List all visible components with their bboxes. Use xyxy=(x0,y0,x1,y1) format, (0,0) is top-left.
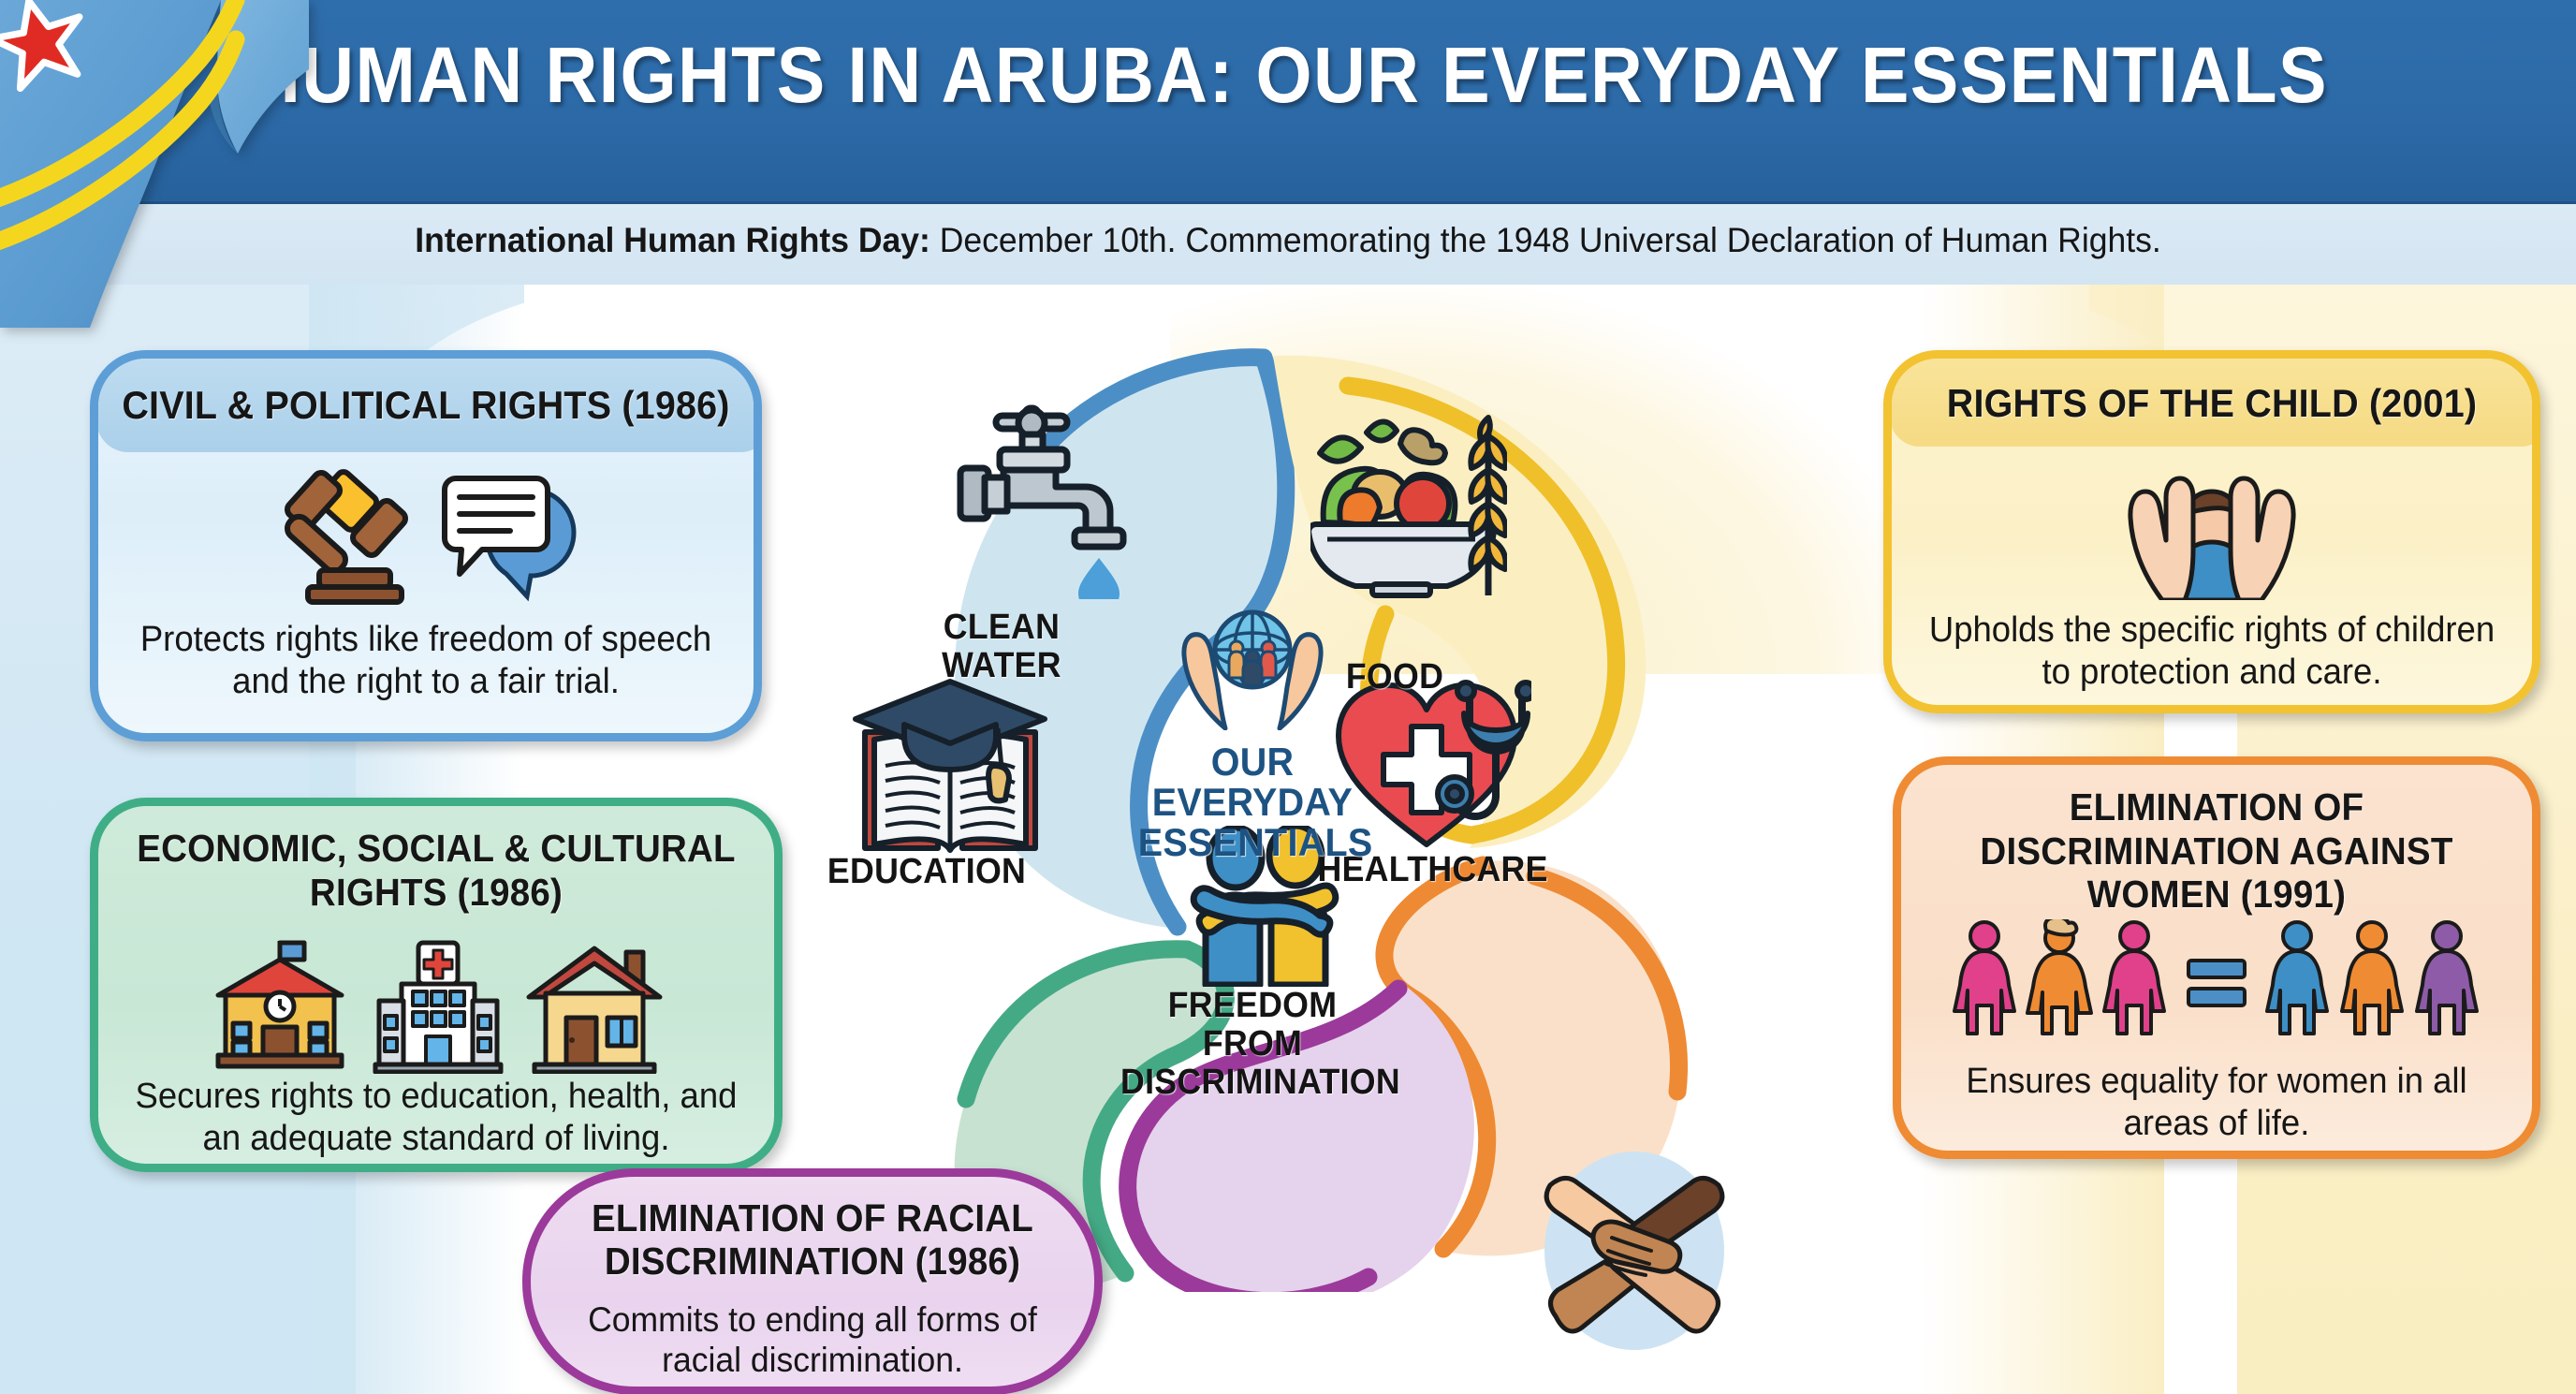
card-description: Protects rights like freedom of speech a… xyxy=(135,619,717,703)
card-description: Ensures equality for women in all areas … xyxy=(1930,1061,2503,1145)
card-elimination-racial-discrimination[interactable]: ELIMINATION OF RACIAL DISCRIMINATION (19… xyxy=(522,1168,1103,1394)
mixed-figures-icon xyxy=(2265,919,2481,1044)
house-icon xyxy=(521,937,667,1079)
petal-label-clean-water: CLEAN WATER xyxy=(905,609,1099,685)
diagram-center: OUR EVERYDAY ESSENTIALS xyxy=(1131,609,1374,908)
diagram-center-label: OUR EVERYDAY ESSENTIALS xyxy=(1138,742,1367,862)
card-icon-row xyxy=(98,469,754,609)
card-icon-row xyxy=(98,937,774,1078)
subtitle-banner: International Human Rights Day: December… xyxy=(0,204,2576,285)
gavel-icon xyxy=(265,467,426,612)
women-figures-icon xyxy=(1953,919,2168,1044)
card-icon-row xyxy=(1901,920,2532,1042)
card-description: Secures rights to education, health, and… xyxy=(126,1076,746,1160)
card-title: ELIMINATION OF RACIAL DISCRIMINATION (19… xyxy=(548,1197,1077,1284)
human-rights-day-note: International Human Rights Day: December… xyxy=(51,221,2525,260)
protecting-hands-child-icon xyxy=(2104,460,2320,605)
card-rights-of-the-child[interactable]: RIGHTS OF THE CHILD (2001) Upholds the s… xyxy=(1883,350,2540,713)
food-bowl-wheat-icon xyxy=(1310,412,1507,604)
human-rights-day-label: International Human Rights Day: xyxy=(415,221,930,259)
card-title: CIVIL & POLITICAL RIGHTS (1986) xyxy=(118,383,734,428)
card-description: Upholds the specific rights of children … xyxy=(1925,609,2499,694)
card-economic-social-cultural-rights[interactable]: ECONOMIC, SOCIAL & CULTURAL RIGHTS (1986… xyxy=(90,798,783,1172)
card-title: ELIMINATION OF DISCRIMINATION AGAINST WO… xyxy=(1920,785,2513,917)
card-description: Commits to ending all forms of racial di… xyxy=(571,1300,1054,1381)
human-rights-day-text: December 10th. Commemorating the 1948 Un… xyxy=(930,221,2161,259)
card-icon-row xyxy=(1892,462,2532,602)
faucet-water-drop-icon xyxy=(947,403,1134,604)
book-graduation-cap-icon xyxy=(842,674,1058,866)
card-civil-political-rights[interactable]: CIVIL & POLITICAL RIGHTS (1986) xyxy=(90,350,762,741)
petal-label-freedom: FREEDOM FROM DISCRIMINATION xyxy=(1120,987,1384,1102)
card-title: RIGHTS OF THE CHILD (2001) xyxy=(1911,381,2513,426)
aruba-flag-icon xyxy=(0,0,309,328)
equals-sign-icon xyxy=(2181,919,2252,1044)
page-title: HUMAN RIGHTS IN ARUBA: OUR EVERYDAY ESSE… xyxy=(103,36,2473,114)
petal-label-education: EDUCATION xyxy=(821,852,1032,892)
hands-holding-globe-icon xyxy=(1164,718,1341,734)
card-elimination-discrimination-women[interactable]: ELIMINATION OF DISCRIMINATION AGAINST WO… xyxy=(1893,756,2540,1159)
everyday-essentials-diagram: CLEAN WATER FOOD HEALTHCARE FREEDOM FROM… xyxy=(824,300,1769,1292)
page-header: HUMAN RIGHTS IN ARUBA: OUR EVERYDAY ESSE… xyxy=(0,0,2576,204)
card-title: ECONOMIC, SOCIAL & CULTURAL RIGHTS (1986… xyxy=(119,827,754,915)
hospital-building-icon xyxy=(368,937,508,1079)
school-building-icon xyxy=(205,937,355,1079)
speech-bubbles-icon xyxy=(439,467,587,612)
unity-hands-icon xyxy=(1543,1152,1726,1350)
